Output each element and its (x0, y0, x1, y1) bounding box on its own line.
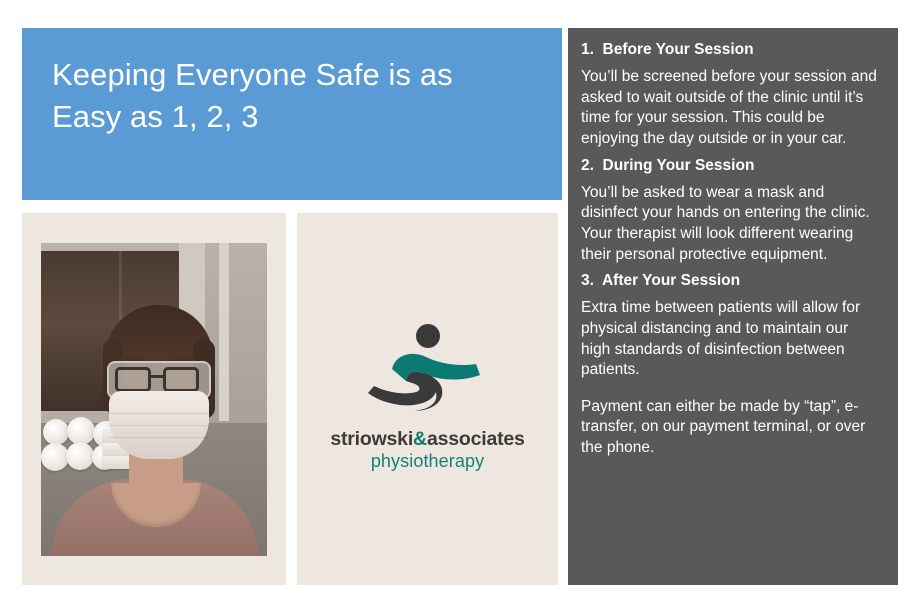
logo-card: striowski&associates physiotherapy (297, 213, 558, 585)
section-body: Extra time between patients will allow f… (581, 298, 880, 380)
logo-block: striowski&associates physiotherapy (297, 323, 558, 472)
section-heading: 1. Before Your Session (581, 40, 880, 60)
mask-pleat (109, 425, 209, 426)
face-mask (109, 391, 209, 459)
towel-roll (67, 417, 95, 445)
section-heading: 2. During Your Session (581, 156, 880, 176)
logo-wordmark: striowski&associates (297, 429, 558, 450)
section-after-your-session: 3. After Your Session Extra time between… (581, 271, 880, 458)
section-body: You’ll be asked to wear a mask and disin… (581, 183, 880, 265)
striowski-associates-figure-logo (362, 323, 494, 419)
info-panel: 1. Before Your Session You’ll be screene… (568, 28, 898, 585)
logo-name-part2: associates (427, 428, 525, 450)
eyeglasses-right-lens (163, 367, 199, 392)
towel-roll (41, 443, 69, 471)
mask-pleat (109, 437, 209, 438)
section-body-payment: Payment can either be made by “tap”, e-t… (581, 397, 880, 459)
logo-tagline: physiotherapy (297, 452, 558, 472)
section-before-your-session: 1. Before Your Session You’ll be screene… (581, 40, 880, 150)
clinician-photo (41, 243, 267, 556)
photo-card (22, 213, 286, 585)
towel-roll (66, 442, 94, 470)
section-body: You’ll be screened before your session a… (581, 67, 880, 149)
section-during-your-session: 2. During Your Session You’ll be asked t… (581, 156, 880, 266)
mask-pleat (109, 413, 209, 414)
page-title: Keeping Everyone Safe is as Easy as 1, 2… (52, 54, 532, 138)
eyeglasses-bridge (151, 375, 163, 378)
title-banner: Keeping Everyone Safe is as Easy as 1, 2… (22, 28, 562, 200)
logo-ampersand: & (413, 428, 427, 450)
eyeglasses-left-lens (115, 367, 151, 392)
photo-wall-panel-2 (219, 243, 229, 421)
towel-roll (43, 419, 69, 445)
logo-name-part1: striowski (330, 428, 413, 450)
slide-canvas: Keeping Everyone Safe is as Easy as 1, 2… (0, 0, 920, 613)
section-heading: 3. After Your Session (581, 271, 880, 291)
